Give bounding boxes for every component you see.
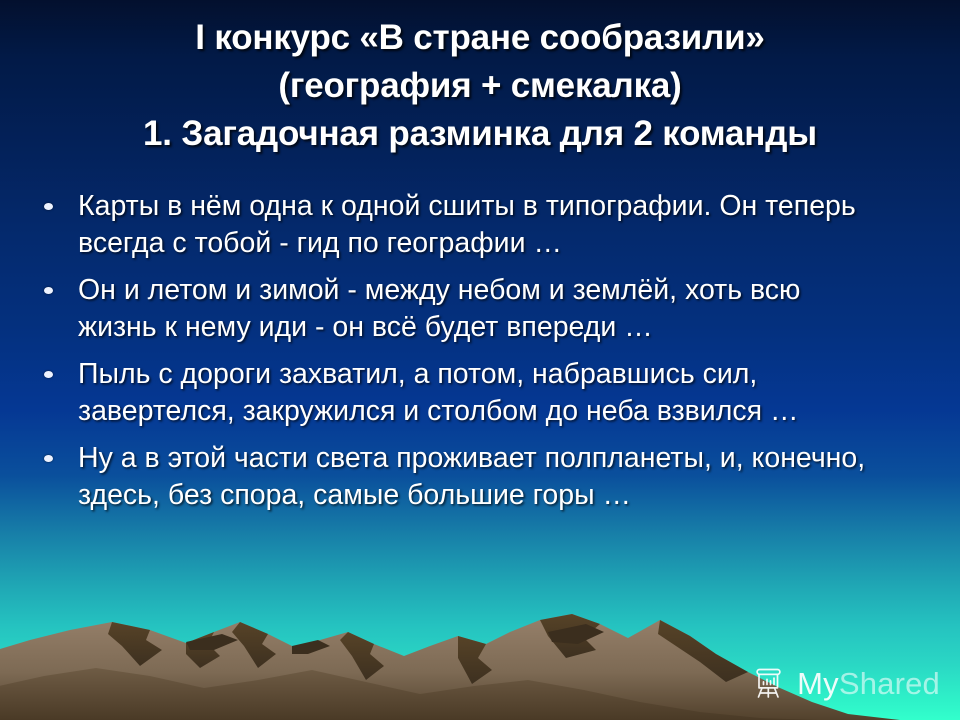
bullet-dot-icon (44, 188, 78, 210)
myshared-watermark: MyShared (750, 664, 940, 702)
bullet-dot-icon (44, 440, 78, 462)
bullet-dot-icon (44, 272, 78, 294)
list-item: Ну а в этой части света проживает полпла… (44, 440, 924, 514)
brand-my: My (797, 666, 839, 701)
slide-canvas: I конкурс «В стране сообразили» (географ… (0, 0, 960, 720)
title-line-3: 1. Загадочная разминка для 2 команды (24, 110, 936, 158)
slide-title: I конкурс «В стране сообразили» (географ… (0, 14, 960, 158)
list-item: Он и летом и зимой - между небом и землё… (44, 272, 924, 346)
brand-shared: Shared (839, 666, 940, 701)
list-item-text: Он и летом и зимой - между небом и землё… (78, 272, 878, 346)
bullet-list: Карты в нём одна к одной сшиты в типогра… (44, 188, 924, 524)
title-line-2: (география + смекалка) (24, 62, 936, 110)
title-line-1: I конкурс «В стране сообразили» (24, 14, 936, 62)
list-item: Карты в нём одна к одной сшиты в типогра… (44, 188, 924, 262)
list-item-text: Карты в нём одна к одной сшиты в типогра… (78, 188, 878, 262)
presentation-board-icon (750, 664, 788, 702)
myshared-wordmark: MyShared (797, 668, 940, 699)
list-item-text: Пыль с дороги захватил, а потом, набравш… (78, 356, 878, 430)
list-item: Пыль с дороги захватил, а потом, набравш… (44, 356, 924, 430)
list-item-text: Ну а в этой части света проживает полпла… (78, 440, 878, 514)
bullet-dot-icon (44, 356, 78, 378)
